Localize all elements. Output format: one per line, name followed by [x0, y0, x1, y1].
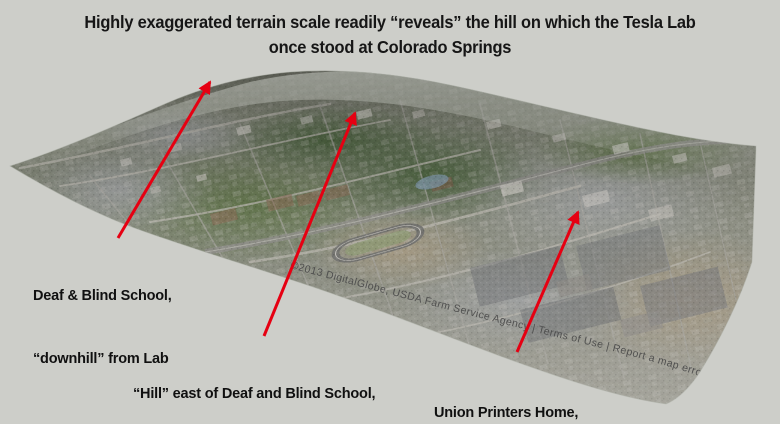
callout-hill-east-line-1: “Hill” east of Deaf and Blind School, [133, 384, 375, 405]
callout-union-printers-home: Union Printers Home, also on a hill [434, 361, 578, 424]
title-line-1: Highly exaggerated terrain scale readily… [23, 10, 756, 35]
callout-hill-east: “Hill” east of Deaf and Blind School, is… [133, 342, 375, 424]
callout-union-printers-home-line-1: Union Printers Home, [434, 403, 578, 424]
page-title: Highly exaggerated terrain scale readily… [23, 10, 756, 60]
slide-canvas: ©2013 DigitalGlobe, USDA Farm Service Ag… [0, 0, 780, 424]
callout-deaf-blind-school-line-1: Deaf & Blind School, [33, 286, 172, 307]
title-line-2: once stood at Colorado Springs [23, 35, 756, 60]
